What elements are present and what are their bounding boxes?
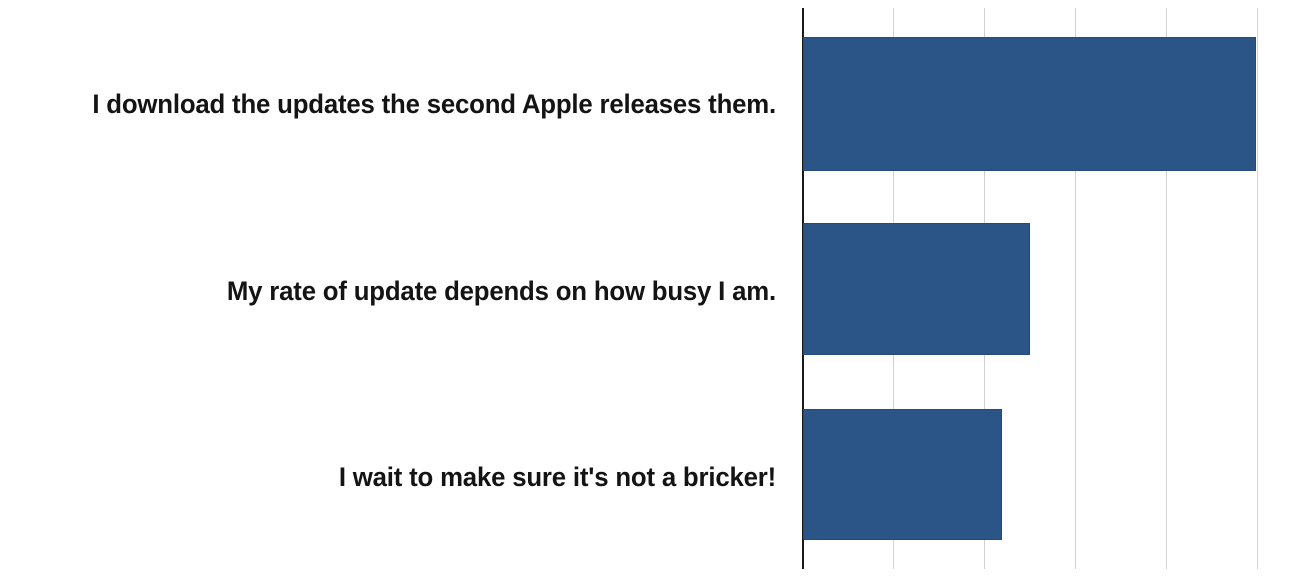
bar-0[interactable] xyxy=(803,37,1256,171)
category-label-0: I download the updates the second Apple … xyxy=(35,88,776,120)
category-label-1: My rate of update depends on how busy I … xyxy=(35,275,776,307)
category-label-2: I wait to make sure it's not a bricker! xyxy=(35,461,776,493)
category-label-column: I download the updates the second Apple … xyxy=(0,0,776,583)
bar-chart: I download the updates the second Apple … xyxy=(0,0,1292,583)
bar-1[interactable] xyxy=(803,223,1030,355)
plot-area xyxy=(802,8,1292,569)
gridline-5 xyxy=(1257,8,1258,569)
bar-2[interactable] xyxy=(803,409,1002,540)
